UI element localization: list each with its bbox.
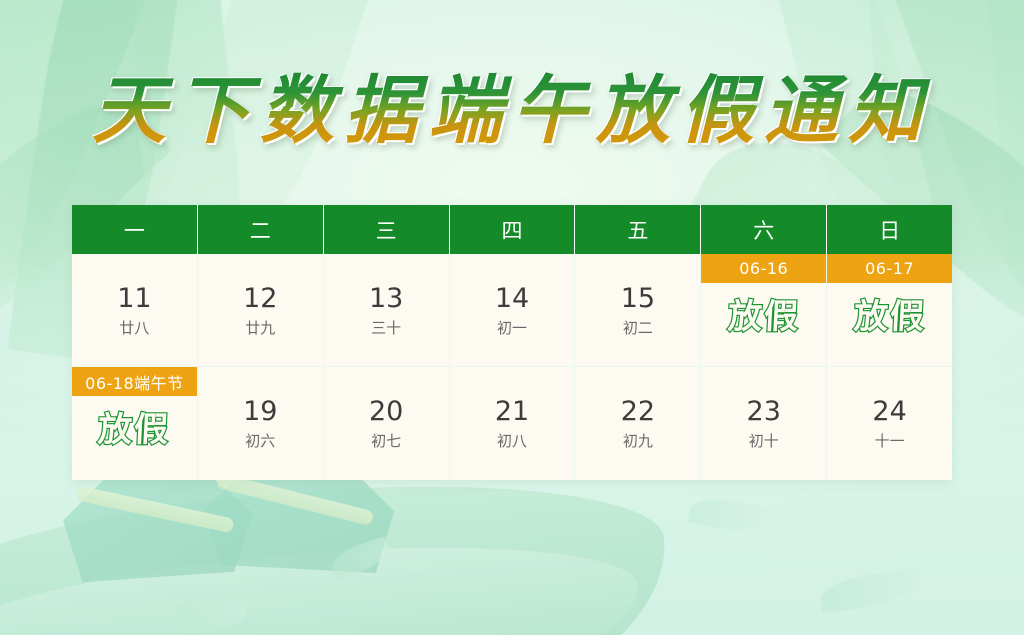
- lunar-date: 廿八: [119, 321, 149, 336]
- large-leaf-highlight: [0, 525, 645, 635]
- lunar-date: 初二: [623, 321, 653, 336]
- day-number: 15: [621, 285, 655, 312]
- lunar-date: 初八: [497, 434, 527, 449]
- calendar-day-cell[interactable]: 19 初六: [198, 367, 324, 480]
- zongzi-tie-icon: [75, 486, 235, 534]
- day-number: 23: [747, 398, 781, 425]
- weekday-header-wed: 三: [324, 205, 450, 254]
- small-leaf-icon: [688, 492, 771, 538]
- small-leaf-icon: [327, 536, 392, 579]
- lunar-date: 初六: [245, 434, 275, 449]
- day-number: 11: [117, 285, 151, 312]
- calendar-day-cell[interactable]: 23 初十: [701, 367, 827, 480]
- calendar-day-cell[interactable]: 24 十一: [827, 367, 952, 480]
- calendar-day-cell[interactable]: 20 初七: [324, 367, 450, 480]
- day-number: 12: [243, 285, 277, 312]
- weekday-header-sun: 日: [827, 205, 952, 254]
- day-number: 20: [369, 398, 403, 425]
- weekday-header-fri: 五: [575, 205, 701, 254]
- day-number: 14: [495, 285, 529, 312]
- lunar-date: 初十: [749, 434, 779, 449]
- calendar-header-row: 一 二 三 四 五 六 日: [72, 205, 952, 254]
- day-number: 21: [495, 398, 529, 425]
- calendar-holiday-cell[interactable]: 06-16 放假: [701, 254, 827, 367]
- lunar-date: 廿九: [245, 321, 275, 336]
- calendar-day-cell[interactable]: 13 三十: [324, 254, 450, 367]
- calendar-day-cell[interactable]: 14 初一: [450, 254, 576, 367]
- lunar-date: 三十: [371, 321, 401, 336]
- day-number: 22: [621, 398, 655, 425]
- small-leaf-icon: [173, 595, 246, 632]
- weekday-header-thu: 四: [450, 205, 576, 254]
- holiday-label: 放假: [727, 300, 801, 334]
- lunar-date: 初一: [497, 321, 527, 336]
- calendar-day-cell[interactable]: 22 初九: [575, 367, 701, 480]
- calendar-week-row: 11 廿八 12 廿九 13 三十 14 初一 15 初二 06-16 放假: [72, 254, 952, 367]
- date-badge-festival: 06-18端午节: [72, 367, 197, 396]
- calendar-day-cell[interactable]: 12 廿九: [198, 254, 324, 367]
- lunar-date: 初九: [623, 434, 653, 449]
- calendar-week-row: 06-18端午节 放假 19 初六 20 初七 21 初八 22 初九 23 初…: [72, 367, 952, 480]
- lunar-date: 十一: [875, 434, 905, 449]
- weekday-header-tue: 二: [198, 205, 324, 254]
- holiday-label: 放假: [98, 413, 172, 447]
- day-number: 13: [369, 285, 403, 312]
- day-number: 24: [872, 398, 906, 425]
- lunar-date: 初七: [371, 434, 401, 449]
- holiday-label: 放假: [853, 300, 927, 334]
- holiday-notice-poster: 天下数据端午放假通知 一 二 三 四 五 六 日 11 廿八 12 廿九 13 …: [0, 0, 1024, 635]
- large-leaf-icon: [0, 460, 680, 635]
- calendar-day-cell[interactable]: 21 初八: [450, 367, 576, 480]
- calendar-holiday-cell[interactable]: 06-18端午节 放假: [72, 367, 198, 480]
- day-number: 19: [243, 398, 277, 425]
- weekday-header-sat: 六: [701, 205, 827, 254]
- date-badge: 06-16: [701, 254, 826, 283]
- calendar-table: 一 二 三 四 五 六 日 11 廿八 12 廿九 13 三十 14 初一: [72, 205, 952, 480]
- weekday-header-mon: 一: [72, 205, 198, 254]
- calendar-day-cell[interactable]: 11 廿八: [72, 254, 198, 367]
- small-leaf-icon: [818, 569, 917, 614]
- calendar-day-cell[interactable]: 15 初二: [575, 254, 701, 367]
- page-title: 天下数据端午放假通知: [0, 72, 1024, 152]
- calendar-holiday-cell[interactable]: 06-17 放假: [827, 254, 952, 367]
- zongzi-tie-icon: [216, 473, 375, 526]
- date-badge: 06-17: [827, 254, 952, 283]
